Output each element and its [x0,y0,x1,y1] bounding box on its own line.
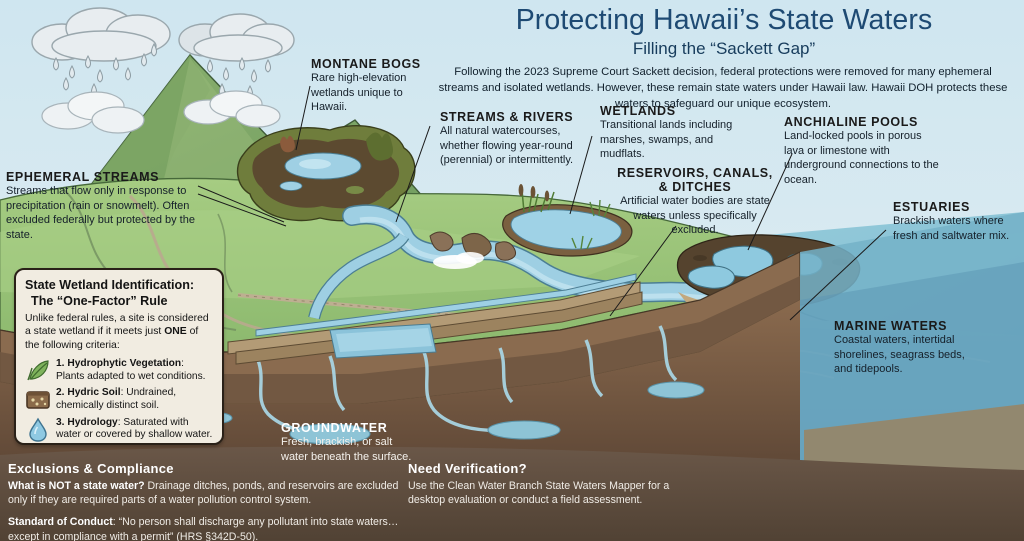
one-factor-rule-card: State Wetland Identification: The “One-F… [14,268,224,445]
criterion-item: 2. Hydric Soil: Undrained, chemically di… [25,386,213,412]
label-heading: MARINE WATERS [834,319,966,333]
footer-right-body: Use the Clean Water Branch State Waters … [408,479,708,507]
label-body: Land-locked pools in porous lava or lime… [784,129,944,187]
page-subtitle: Filling the “Sackett Gap” [434,38,1014,59]
label-streams-rivers: STREAMS & RIVERS All natural watercourse… [440,110,588,168]
water-drop-icon [25,416,51,442]
label-heading: RESERVOIRS, CANALS, & DITCHES [615,166,775,194]
need-verification-block: Need Verification? Use the Clean Water B… [408,461,708,507]
criterion-item: 3. Hydrology: Saturated with water or co… [25,416,213,442]
criterion-item: 1. Hydrophytic Vegetation: Plants adapte… [25,357,213,383]
label-heading: STREAMS & RIVERS [440,110,588,124]
label-body: Fresh, brackish, or salt water beneath t… [281,435,421,464]
label-heading: ESTUARIES [893,200,1021,214]
criterion-term: Hydrology [67,417,117,428]
label-groundwater: GROUNDWATER Fresh, brackish, or salt wat… [281,421,421,464]
label-heading: WETLANDS [600,104,750,118]
card-title-line1: State Wetland Identification: [25,278,213,294]
label-body: Rare high-elevation wetlands unique to H… [311,71,437,115]
header-block: Protecting Hawaii’s State Waters Filling… [434,4,1014,112]
card-title-line2: The “One-Factor” Rule [25,294,213,310]
criterion-num: 1. [56,358,65,369]
criterion-text: 2. Hydric Soil: Undrained, chemically di… [56,386,213,412]
exclusions-compliance-block: Exclusions & Compliance What is NOT a st… [8,461,408,541]
label-body: Transitional lands including marshes, sw… [600,118,750,162]
label-reservoirs-canals-ditches: RESERVOIRS, CANALS, & DITCHES Artificial… [615,166,775,238]
label-heading: MONTANE BOGS [311,57,437,71]
criterion-num: 2. [56,387,65,398]
criterion-num: 3. [56,417,65,428]
criterion-term: Hydric Soil [67,387,120,398]
label-body: Artificial water bodies are state waters… [615,194,775,238]
label-estuaries: ESTUARIES Brackish waters where fresh an… [893,200,1021,243]
infographic-canvas: Protecting Hawaii’s State Waters Filling… [0,0,1024,541]
label-marine-waters: MARINE WATERS Coastal waters, intertidal… [834,319,966,377]
footer-left-p2-bold: Standard of Conduct [8,516,113,528]
card-intro-one: ONE [164,326,187,337]
footer-left-p1-bold: What is NOT a state water? [8,480,145,492]
footer-right-heading: Need Verification? [408,461,708,477]
label-body: Coastal waters, intertidal shorelines, s… [834,333,966,377]
footer-left-p2: Standard of Conduct: “No person shall di… [8,515,408,541]
label-montane-bogs: MONTANE BOGS Rare high-elevation wetland… [311,57,437,115]
label-body: Streams that flow only in response to pr… [6,184,206,242]
label-body: All natural watercourses, whether flowin… [440,124,588,168]
label-anchialine-pools: ANCHIALINE POOLS Land-locked pools in po… [784,115,944,187]
criterion-text: 1. Hydrophytic Vegetation: Plants adapte… [56,357,213,383]
label-wetlands: WETLANDS Transitional lands including ma… [600,104,750,162]
card-intro: Unlike federal rules, a site is consider… [25,312,213,352]
montane-bog [238,126,415,221]
criterion-term: Hydrophytic Vegetation [67,358,181,369]
label-heading: GROUNDWATER [281,421,421,435]
footer-left-p1: What is NOT a state water? Drainage ditc… [8,479,408,507]
criteria-list: 1. Hydrophytic Vegetation: Plants adapte… [25,357,213,442]
criterion-text: 3. Hydrology: Saturated with water or co… [56,416,213,442]
leaf-icon [25,357,51,383]
soil-icon [25,386,51,412]
page-title: Protecting Hawaii’s State Waters [434,4,1014,37]
label-heading: ANCHIALINE POOLS [784,115,944,129]
label-heading: EPHEMERAL STREAMS [6,170,206,184]
label-body: Brackish waters where fresh and saltwate… [893,214,1021,243]
label-ephemeral-streams: EPHEMERAL STREAMS Streams that flow only… [6,170,206,242]
footer-left-heading: Exclusions & Compliance [8,461,408,477]
